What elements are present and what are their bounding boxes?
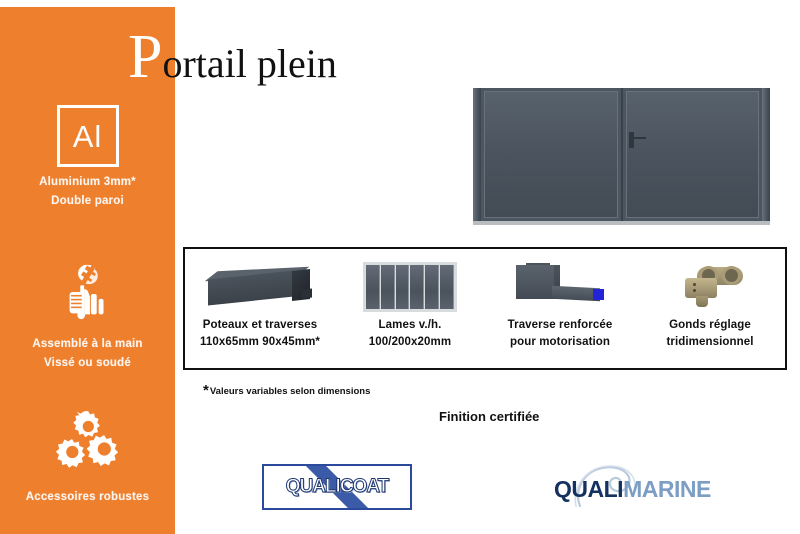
feature-gonds: Gonds réglage tridimensionnel: [635, 249, 785, 368]
qualicoat-logo: QUALICOAT: [262, 464, 412, 510]
footnote-star: *: [203, 382, 209, 399]
feature-poteaux-caption-1: Poteaux et traverses: [203, 319, 318, 331]
features-box: Poteaux et traverses 110x65mm 90x45mm* L…: [183, 247, 787, 370]
motorisation-beam-art: [510, 258, 610, 316]
qualimarine-text-part-1: QUALI: [554, 476, 623, 502]
feature-lames-caption-2: 100/200x20mm: [369, 336, 451, 348]
qualicoat-logo-text: QUALICOAT: [286, 476, 389, 498]
page-title-initial: P: [128, 23, 162, 91]
footnote-text: Valeurs variables selon dimensions: [210, 386, 371, 397]
page-title: Portail plein: [128, 30, 337, 84]
feature-lames: Lames v./h. 100/200x20mm: [335, 249, 485, 368]
aluminium-symbol-text: Al: [73, 121, 103, 152]
slats-panel-art: [363, 258, 457, 316]
aluminium-square-icon: Al: [57, 105, 119, 167]
finition-certifiee-label: Finition certifiée: [439, 409, 539, 424]
qualimarine-text-part-2: MARINE: [623, 476, 711, 502]
hinge-art: [675, 258, 745, 316]
sidebar-item-aluminium-label-2: Double paroi: [0, 195, 175, 207]
gears-icon: [0, 405, 175, 477]
feature-traverse-caption-1: Traverse renforcée: [508, 319, 613, 331]
hand-wrench-icon: [0, 257, 175, 329]
footnote: *Valeurs variables selon dimensions: [203, 382, 370, 399]
sidebar-item-accessoires-label-1: Accessoires robustes: [0, 491, 175, 503]
sidebar-item-assemblage-label-1: Assemblé à la main: [0, 338, 175, 350]
gate-leaf-left: [481, 88, 622, 221]
feature-lames-caption-1: Lames v./h.: [379, 319, 442, 331]
qualimarine-logo: QUALIMARINE: [548, 462, 724, 512]
feature-traverse: Traverse renforcée pour motorisation: [485, 249, 635, 368]
sidebar-item-accessoires: Accessoires robustes: [0, 405, 175, 503]
feature-gonds-caption-2: tridimensionnel: [666, 336, 753, 348]
page-title-rest: ortail plein: [162, 41, 336, 86]
sidebar-item-assemblage-label-2: Vissé ou soudé: [0, 357, 175, 369]
profile-extrusion-art: [208, 258, 312, 316]
gate-leaf-right: [622, 88, 763, 221]
feature-gonds-caption-1: Gonds réglage: [669, 319, 751, 331]
gate-post-right: [762, 88, 770, 221]
feature-traverse-caption-2: pour motorisation: [510, 336, 610, 348]
gate-ground-shadow: [473, 221, 770, 225]
gate-post-left: [473, 88, 481, 221]
feature-poteaux-caption-2: 110x65mm 90x45mm*: [200, 336, 320, 348]
sidebar-item-aluminium: Al Aluminium 3mm* Double paroi: [0, 105, 175, 207]
sidebar-item-aluminium-label-1: Aluminium 3mm*: [0, 176, 175, 188]
gate-handle-icon: [629, 132, 634, 148]
sidebar-item-assemblage: Assemblé à la main Vissé ou soudé: [0, 257, 175, 369]
double-leaf-gate-photo: [473, 88, 770, 221]
feature-poteaux: Poteaux et traverses 110x65mm 90x45mm*: [185, 249, 335, 368]
qualimarine-logo-text: QUALIMARINE: [554, 476, 711, 503]
